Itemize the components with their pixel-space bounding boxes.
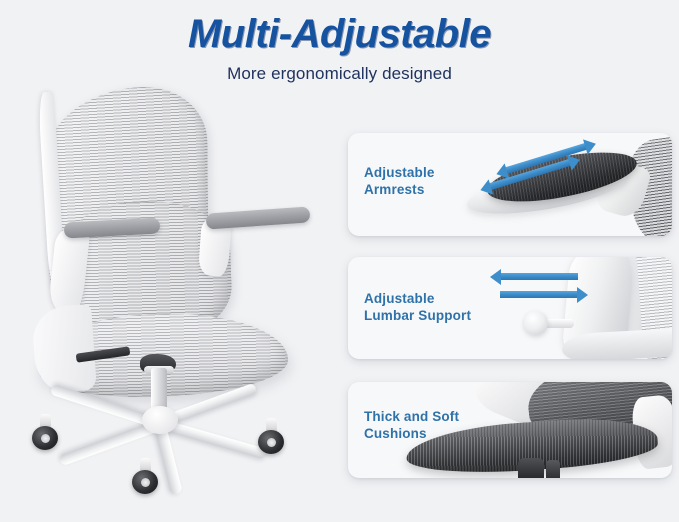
feature-card-lumbar-support[interactable]: Adjustable Lumbar Support: [348, 257, 672, 359]
cushion-art-cylinder-rod: [546, 460, 560, 478]
feature-label-cushions: Thick and Soft Cushions: [364, 408, 459, 443]
chair-base-hub: [142, 406, 178, 434]
cushion-art-cylinder: [518, 458, 544, 478]
feature-card-armrests[interactable]: Adjustable Armrests: [348, 133, 672, 236]
product-image-chair: [18, 82, 340, 512]
page-subtitle: More ergonomically designed: [0, 64, 679, 84]
feature-card-cushions[interactable]: Thick and Soft Cushions: [348, 382, 672, 478]
header: Multi-Adjustable More ergonomically desi…: [0, 12, 679, 84]
chair-caster: [132, 470, 158, 494]
chair-caster: [258, 430, 284, 454]
lumbar-arrow-left-icon: [500, 273, 578, 280]
lumbar-adjust-knob: [524, 311, 548, 335]
feature-label-armrests: Adjustable Armrests: [364, 164, 435, 199]
chair-seat-edge: [31, 304, 97, 394]
infographic-canvas: Multi-Adjustable More ergonomically desi…: [0, 0, 679, 522]
page-title: Multi-Adjustable: [0, 12, 679, 57]
chair-armrest-right-pad: [206, 206, 311, 229]
lumbar-arrow-right-icon: [500, 291, 578, 298]
feature-label-lumbar-support: Adjustable Lumbar Support: [364, 290, 471, 325]
chair-caster: [32, 426, 58, 450]
